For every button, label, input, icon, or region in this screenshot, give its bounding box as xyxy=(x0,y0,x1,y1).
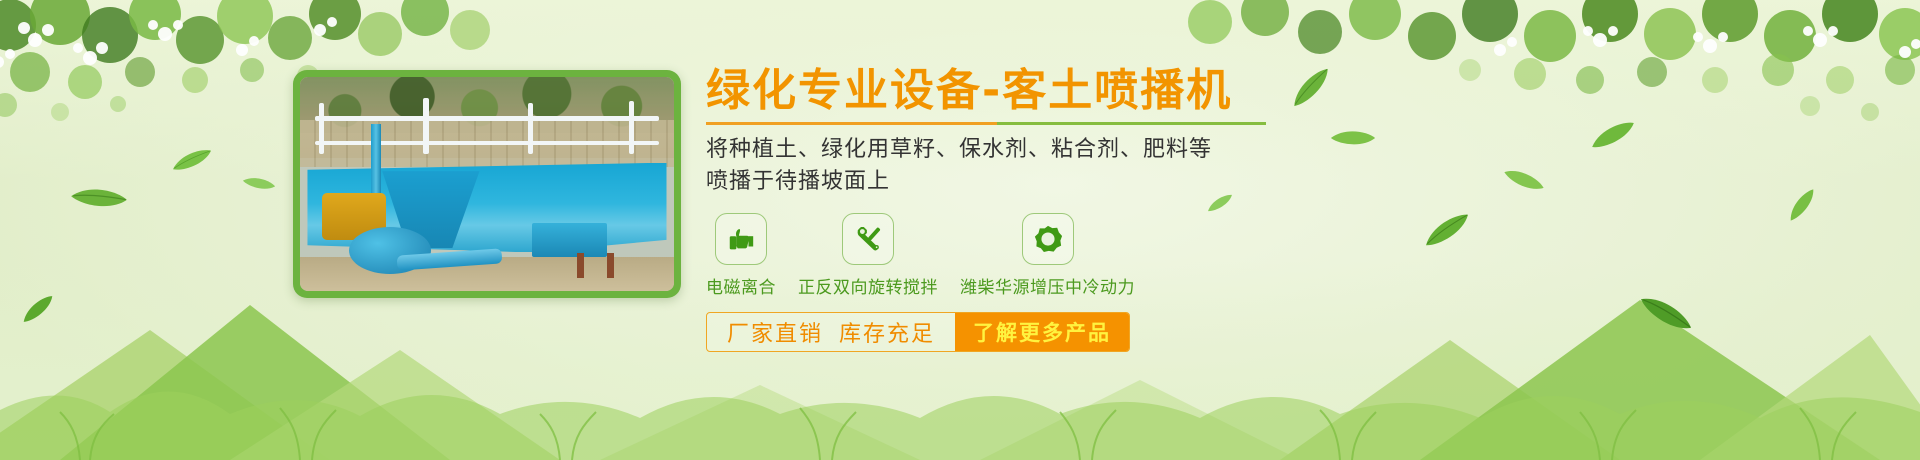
feature-label: 潍柴华源增压中冷动力 xyxy=(960,273,1135,298)
learn-more-button[interactable]: 了解更多产品 xyxy=(955,313,1129,351)
cta-slogan-1: 厂家直销 xyxy=(727,316,823,348)
cta-slogan-2: 库存充足 xyxy=(839,316,935,348)
feature-badge xyxy=(1022,213,1074,265)
cta-slogan: 厂家直销 库存充足 xyxy=(707,313,955,351)
photo-railing-post xyxy=(319,103,324,154)
photo-machine-leg xyxy=(607,253,614,279)
subtitle: 将种植土、绿化用草籽、保水剂、粘合剂、肥料等 喷播于待播坡面上 xyxy=(706,134,1586,196)
title-divider xyxy=(706,122,1266,125)
feature-label: 电磁离合 xyxy=(706,273,776,298)
photo-railing xyxy=(315,116,659,121)
subtitle-line-1: 将种植土、绿化用草籽、保水剂、粘合剂、肥料等 xyxy=(706,134,1586,165)
product-photo-card[interactable] xyxy=(293,70,681,298)
photo-railing-post xyxy=(528,103,533,154)
subtitle-line-2: 喷播于待播坡面上 xyxy=(706,166,1586,197)
feature-item-turbo-power[interactable]: 潍柴华源增压中冷动力 xyxy=(960,213,1135,298)
feature-item-bidirectional-mixing[interactable]: 正反双向旋转搅拌 xyxy=(798,213,938,298)
feature-list: 电磁离合 正 xyxy=(706,213,1586,298)
photo-railing xyxy=(315,141,659,145)
gear-icon xyxy=(1033,224,1063,254)
grass-band xyxy=(0,340,1920,460)
content-block: 绿化专业设备-客土喷播机 将种植土、绿化用草籽、保水剂、粘合剂、肥料等 喷播于待… xyxy=(706,66,1586,352)
photo-railing-post xyxy=(629,101,634,155)
photo-railing-post xyxy=(423,98,428,154)
wrench-screwdriver-icon xyxy=(853,224,883,254)
feature-badge xyxy=(842,213,894,265)
feature-badge xyxy=(715,213,767,265)
cta-bar: 厂家直销 库存充足 了解更多产品 xyxy=(706,312,1130,352)
page-title: 绿化专业设备-客土喷播机 xyxy=(706,66,1586,115)
thumbs-up-icon xyxy=(726,224,756,254)
photo-machine-control-box xyxy=(532,223,607,257)
promo-banner: 绿化专业设备-客土喷播机 将种植土、绿化用草籽、保水剂、粘合剂、肥料等 喷播于待… xyxy=(0,0,1920,460)
feature-label: 正反双向旋转搅拌 xyxy=(798,273,938,298)
product-photo xyxy=(300,77,674,291)
photo-machine-leg xyxy=(577,253,584,279)
feature-item-electromagnetic-clutch[interactable]: 电磁离合 xyxy=(706,213,776,298)
